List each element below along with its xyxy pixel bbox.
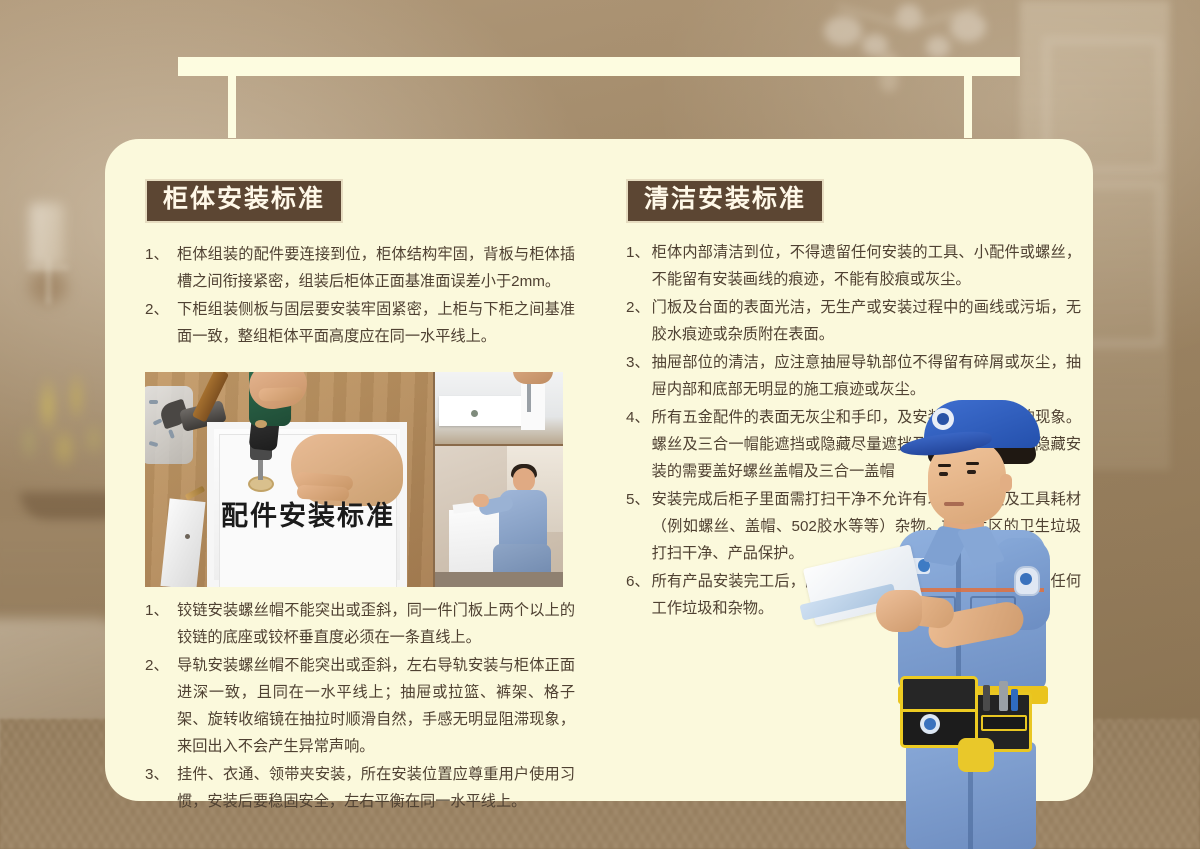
photo-collage: 配件安装标准 — [145, 372, 563, 587]
list-item-number: 2、 — [145, 652, 177, 679]
list-item-text: 抽屉部位的清洁，应注意抽屉导轨部位不得留有碎屑或灰尘，抽屉内部和底部无明显的施工… — [652, 349, 1081, 403]
list-item-number: 1、 — [145, 597, 177, 624]
list-item: 1、 柜体组装的配件要连接到位，柜体结构牢固，背板与柜体插槽之间衔接紧密，组装后… — [145, 241, 575, 295]
cap-logo-icon — [932, 408, 954, 430]
list-item: 1、 柜体内部清洁到位，不得遗留任何安装的工具、小配件或螺丝，不能留有安装画线的… — [626, 239, 1081, 293]
tape-measure-icon — [958, 738, 994, 772]
photo-installer-kneeling — [435, 446, 563, 587]
list-item-text: 挂件、衣通、领带夹安装，所在安装位置应尊重用户使用习惯，安装后要稳固安全，左右平… — [177, 761, 575, 815]
collage-caption: 配件安装标准 — [221, 494, 395, 533]
list-item-number: 2、 — [145, 296, 177, 323]
list-item: 1、 铰链安装螺丝帽不能突出或歪斜，同一件门板上两个以上的铰链的底座或铰杯垂直度… — [145, 597, 575, 651]
photo-worker-with-clipboard — [878, 398, 1138, 849]
poster-page: 柜体安装标准 1、 柜体组装的配件要连接到位，柜体结构牢固，背板与柜体插槽之间衔… — [0, 0, 1200, 849]
list-item-number: 3、 — [145, 761, 177, 788]
left-column: 柜体安装标准 1、 柜体组装的配件要连接到位，柜体结构牢固，背板与柜体插槽之间衔… — [145, 179, 575, 816]
list-item-number: 4、 — [626, 404, 652, 431]
list-item-number: 3、 — [626, 349, 652, 376]
list-item-number: 2、 — [626, 294, 652, 321]
left-top-list: 1、 柜体组装的配件要连接到位，柜体结构牢固，背板与柜体插槽之间衔接紧密，组装后… — [145, 241, 575, 350]
list-item: 2、 下柜组装侧板与固层要安装牢固紧密，上柜与下柜之间基准面一致，整组柜体平面高… — [145, 296, 575, 350]
top-bracket-leg-right — [964, 76, 972, 138]
photo-screwdriver-detail — [435, 372, 563, 444]
tool-bag-logo-icon — [920, 714, 940, 734]
list-item-number: 5、 — [626, 486, 652, 513]
photo-drilling-cabinet-door — [145, 372, 433, 587]
list-item: 2、 门板及台面的表面光洁，无生产或安装过程中的画线或污垢，无胶水痕迹或杂质附在… — [626, 294, 1081, 348]
left-bottom-list: 1、 铰链安装螺丝帽不能突出或歪斜，同一件门板上两个以上的铰链的底座或铰杯垂直度… — [145, 597, 575, 815]
right-section-title: 清洁安装标准 — [626, 179, 824, 223]
list-item: 3、 挂件、衣通、领带夹安装，所在安装位置应尊重用户使用习惯，安装后要稳固安全，… — [145, 761, 575, 815]
list-item: 3、 抽屉部位的清洁，应注意抽屉导轨部位不得留有碎屑或灰尘，抽屉内部和底部无明显… — [626, 349, 1081, 403]
list-item-text: 导轨安装螺丝帽不能突出或歪斜，左右导轨安装与柜体正面进深一致，且同在一水平线上；… — [177, 652, 575, 760]
list-item-number: 6、 — [626, 568, 652, 595]
list-item-text: 门板及台面的表面光洁，无生产或安装过程中的画线或污垢，无胶水痕迹或杂质附在表面。 — [652, 294, 1081, 348]
list-item-number: 1、 — [626, 239, 652, 266]
list-item-number: 1、 — [145, 241, 177, 268]
list-item-text: 柜体组装的配件要连接到位，柜体结构牢固，背板与柜体插槽之间衔接紧密，组装后柜体正… — [177, 241, 575, 295]
list-item: 2、 导轨安装螺丝帽不能突出或歪斜，左右导轨安装与柜体正面进深一致，且同在一水平… — [145, 652, 575, 760]
list-item-text: 铰链安装螺丝帽不能突出或歪斜，同一件门板上两个以上的铰链的底座或铰杯垂直度必须在… — [177, 597, 575, 651]
top-bracket-leg-left — [228, 76, 236, 138]
left-section-title: 柜体安装标准 — [145, 179, 343, 223]
top-bracket-bar — [178, 57, 1020, 76]
list-item-text: 柜体内部清洁到位，不得遗留任何安装的工具、小配件或螺丝，不能留有安装画线的痕迹，… — [652, 239, 1081, 293]
list-item-text: 下柜组装侧板与固层要安装牢固紧密，上柜与下柜之间基准面一致，整组柜体平面高度应在… — [177, 296, 575, 350]
